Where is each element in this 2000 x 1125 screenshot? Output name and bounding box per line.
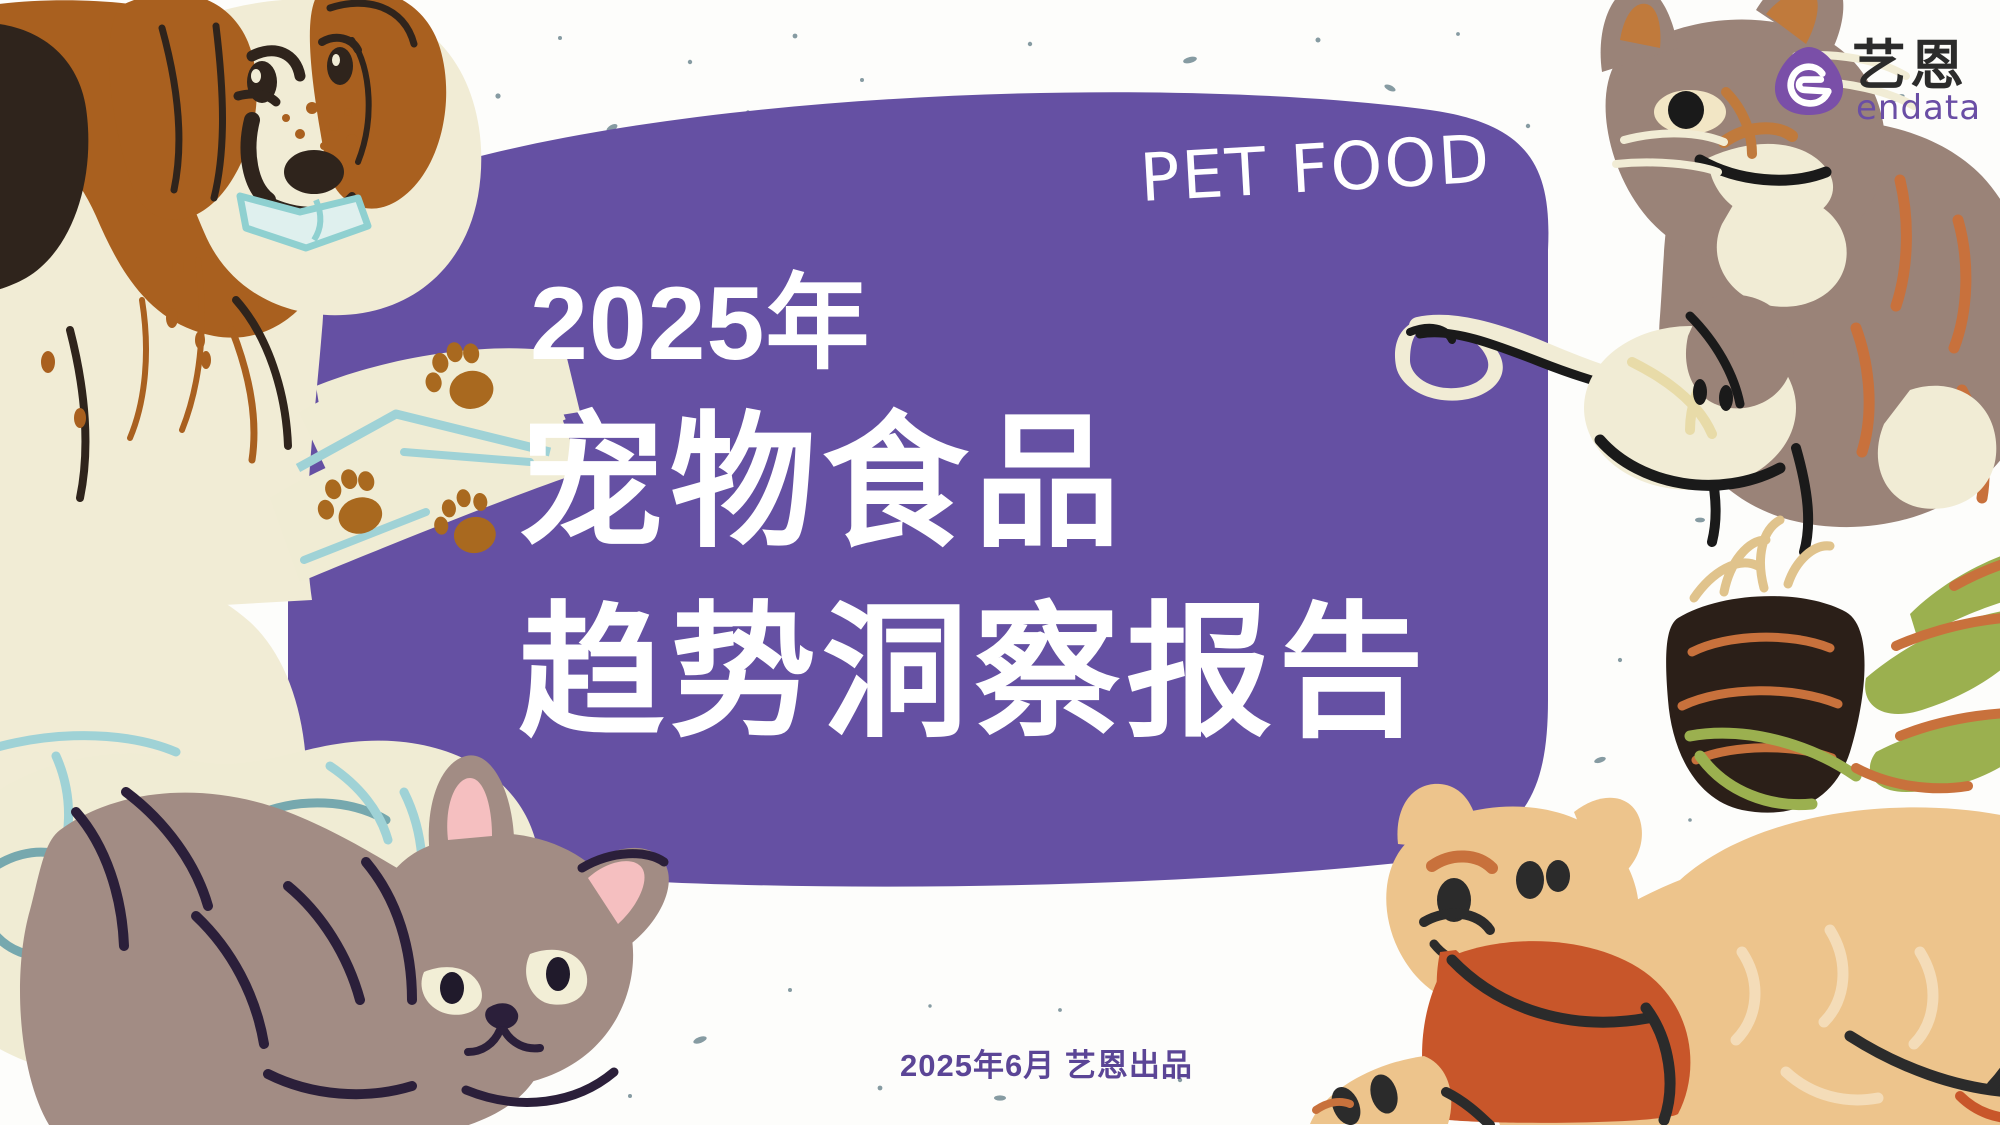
endata-e-mark-icon: [1772, 44, 1846, 118]
endata-logo: 艺恩 endata: [1772, 42, 1984, 124]
logo-chinese-name: 艺恩: [1852, 38, 1968, 95]
logo-english-name: endata: [1856, 88, 1981, 128]
cover-title-line-2: 趋势洞察报告: [518, 600, 1430, 746]
cover-page: PET FOOD 2025年 宠物食品 趋势洞察报告 2025年6月 艺恩出品 …: [0, 0, 2000, 1125]
cover-year: 2025年: [530, 272, 870, 376]
cover-footer: 2025年6月 艺恩出品: [900, 1040, 1193, 1085]
cover-title-line-1: 宠物食品: [518, 410, 1126, 556]
